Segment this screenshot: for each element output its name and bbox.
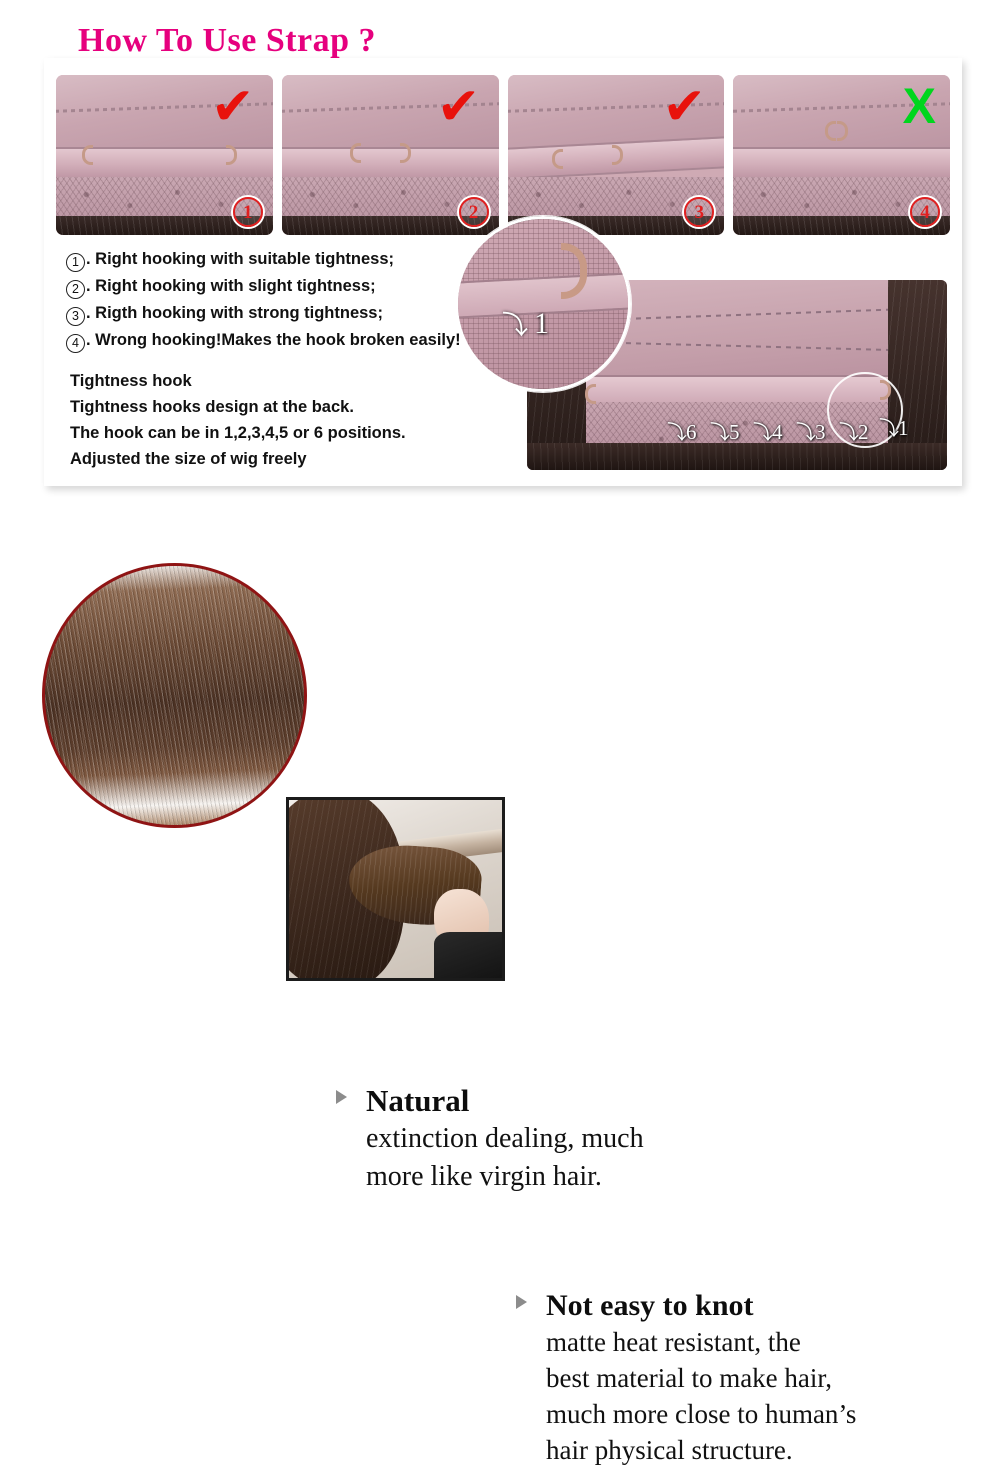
feature-natural-body: extinction dealing, much more like virgi… xyxy=(366,1120,956,1196)
hook-position-4: ⤵4 xyxy=(753,416,783,445)
closeup-position-label: 1 xyxy=(534,307,549,341)
hook-position-6: ⤵6 xyxy=(667,416,697,445)
feature-not-easy-to-knot: Not easy to knot matte heat resistant, t… xyxy=(516,1287,996,1468)
instruction-text-1: . Right hooking with suitable tightness; xyxy=(86,246,394,273)
instruction-text-2: . Right hooking with slight tightness; xyxy=(86,273,376,300)
strap-panel-row: ✔ 1 ✔ 2 xyxy=(52,75,954,235)
circled-number-2: 2 xyxy=(66,280,85,299)
feature-natural-heading: Natural xyxy=(366,1082,956,1120)
hook-position-1: ⤵1 xyxy=(879,412,909,441)
woman-holding-hair-photo xyxy=(286,797,505,981)
feature-natural-line-2: more like virgin hair. xyxy=(366,1158,956,1196)
strap-instruction-card: ✔ 1 ✔ 2 xyxy=(44,58,962,486)
feature-knot-line-1: matte heat resistant, the xyxy=(546,1324,996,1360)
instruction-item-4: 4 . Wrong hooking!Makes the hook broken … xyxy=(66,327,526,354)
instruction-text-4: . Wrong hooking!Makes the hook broken ea… xyxy=(86,327,461,354)
feature-natural: Natural extinction dealing, much more li… xyxy=(336,1082,956,1196)
hook-position-2: ⤵2 xyxy=(839,416,869,445)
red-check-icon-2: ✔ xyxy=(431,83,487,131)
strap-panel-1: ✔ 1 xyxy=(56,75,273,235)
hook-position-5: ⤵5 xyxy=(710,416,740,445)
triangle-bullet-icon xyxy=(516,1295,527,1309)
hair-closeup-circular-photo xyxy=(42,563,307,828)
red-check-icon-1: ✔ xyxy=(205,83,261,131)
feature-knot-line-2: best material to make hair, xyxy=(546,1360,996,1396)
feature-knot-heading: Not easy to knot xyxy=(546,1287,996,1324)
feature-natural-line-1: extinction dealing, much xyxy=(366,1120,956,1158)
panel-badge-1: 1 xyxy=(233,197,263,227)
tightness-line-4: Adjusted the size of wig freely xyxy=(70,446,540,472)
circled-number-3: 3 xyxy=(66,307,85,326)
panel-badge-4: 4 xyxy=(910,197,940,227)
hook-position-3: ⤵3 xyxy=(796,416,826,445)
how-to-use-strap-section: How To Use Strap ? ✔ 1 xyxy=(0,0,1000,500)
feature-knot-line-3: much more close to human’s xyxy=(546,1396,996,1432)
circled-number-1: 1 xyxy=(66,253,85,272)
curved-arrow-icon: ⤵ xyxy=(502,313,528,339)
feature-knot-line-4: hair physical structure. xyxy=(546,1432,996,1468)
instruction-text-3: . Rigth hooking with strong tightness; xyxy=(86,300,383,327)
page-title: How To Use Strap ? xyxy=(78,22,376,60)
strap-panel-3: ✔ 3 xyxy=(508,75,725,235)
hook-closeup-inset: ⤵ 1 xyxy=(455,216,631,392)
triangle-bullet-icon xyxy=(336,1090,347,1104)
green-cross-icon-4: X xyxy=(903,81,936,131)
tightness-line-2: Tightness hooks design at the back. xyxy=(70,394,540,420)
hair-quality-section: Natural extinction dealing, much more li… xyxy=(0,500,1000,1000)
strap-panel-4: X 4 xyxy=(733,75,950,235)
tightness-line-3: The hook can be in 1,2,3,4,5 or 6 positi… xyxy=(70,420,540,446)
instruction-item-1: 1 . Right hooking with suitable tightnes… xyxy=(66,246,526,273)
red-check-icon-3: ✔ xyxy=(656,83,712,131)
feature-knot-body: matte heat resistant, the best material … xyxy=(546,1324,996,1468)
strap-panel-2: ✔ 2 xyxy=(282,75,499,235)
circled-number-4: 4 xyxy=(66,334,85,353)
